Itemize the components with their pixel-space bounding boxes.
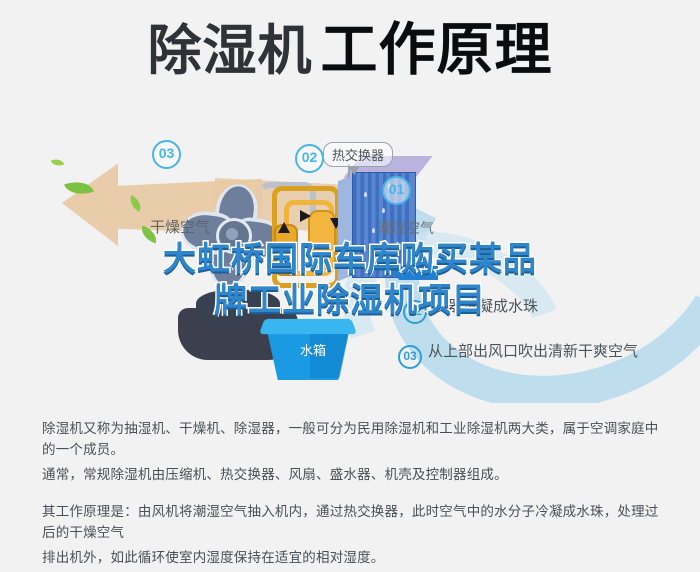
title-part-one: 除湿机	[148, 21, 313, 81]
page-title: 除湿机工作原理	[0, 22, 700, 79]
description-paragraph-1: 除湿机又称为抽湿机、干燥机、除湿器，一般可分为民用除湿机和工业除湿机两大类，属于…	[42, 418, 666, 460]
badge-01: 01	[382, 176, 411, 205]
note-badge-03: 03	[398, 345, 422, 369]
flow-arrow-icon	[278, 222, 290, 233]
label-humid-air: 潮湿空气	[378, 218, 434, 238]
description-paragraph-2: 通常，常规除湿机由压缩机、热交换器、风扇、盛水器、机壳及控制器组成。	[42, 464, 666, 485]
label-water-tank: 水箱	[300, 340, 392, 402]
note-item-03: 03从上部出风口吹出清新干爽空气	[398, 340, 638, 369]
callout-heat-exchanger: 热交换器	[323, 142, 393, 167]
leaf-icon	[51, 156, 65, 169]
label-dry-air: 干燥空气	[150, 216, 210, 237]
title-part-two: 工作原理	[321, 18, 553, 82]
description-block: 除湿机又称为抽湿机、干燥机、除湿器，一般可分为民用除湿机和工业除湿机两大类，属于…	[42, 418, 666, 572]
watermark-line-1: 大虹桥国际车库购买某品	[0, 238, 700, 279]
watermark-headline: 大虹桥国际车库购买某品 牌工业除湿机项目	[0, 238, 700, 320]
badge-03: 03	[152, 140, 181, 169]
flow-arrow-icon	[300, 210, 311, 222]
infographic-page: 除湿机工作原理	[0, 0, 700, 566]
description-paragraph-4: 排出机外，如此循环使室内湿度保持在适宜的相对湿度。	[42, 547, 666, 568]
description-paragraph-3: 其工作原理是：由风机将潮湿空气抽入机内，通过热交换器，此时空气中的水分子冷凝成水…	[42, 501, 666, 543]
note-text-03: 从上部出风口吹出清新干爽空气	[428, 343, 638, 360]
watermark-line-2: 牌工业除湿机项目	[0, 279, 700, 320]
badge-02: 02	[295, 144, 324, 173]
